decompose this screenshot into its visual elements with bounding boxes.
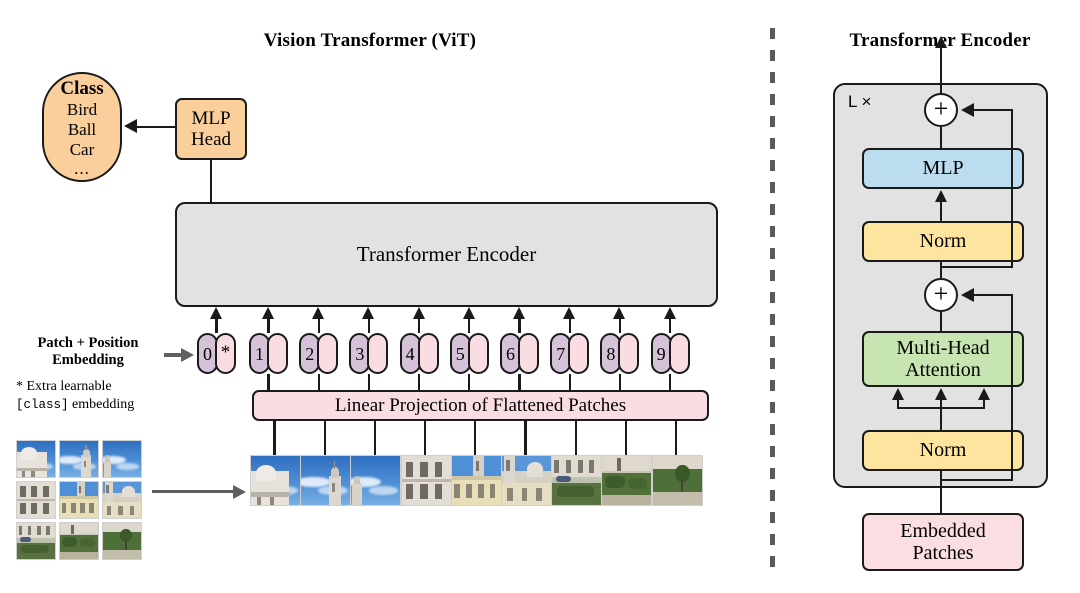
projection-to-patch-6-line	[524, 419, 526, 456]
transformer-encoder-block: Transformer Encoder	[175, 202, 718, 307]
left-panel-title: Vision Transformer (ViT)	[0, 30, 740, 52]
token-9-to-projection-line	[669, 374, 671, 392]
token-8-to-projection-line	[619, 374, 621, 392]
residual-add-top-symbol: +	[934, 96, 949, 122]
token-0-up-arrowhead	[210, 307, 222, 319]
token-6: 6	[500, 333, 539, 374]
source-patch-r3-c1	[16, 522, 56, 560]
flattened-patch-2	[300, 455, 351, 506]
class-item-bird: Bird	[67, 100, 97, 120]
token-9-up-arrowhead	[664, 307, 676, 319]
embedded-patches-block: Embedded Patches	[862, 513, 1024, 571]
class-box-heading: Class	[60, 78, 103, 100]
token-2-patch-capsule	[317, 333, 338, 374]
flattened-patch-9	[652, 455, 703, 506]
flattened-patch-1	[250, 455, 301, 506]
source-patch-r1-c3	[102, 440, 142, 478]
token-3-up-arrowhead	[362, 307, 374, 319]
token-8-patch-capsule	[618, 333, 639, 374]
mlp-head-to-encoder-line	[210, 160, 212, 203]
token-7: 7	[550, 333, 589, 374]
projection-to-patch-8-line	[625, 419, 627, 456]
norm-upper-to-mlp-line	[940, 199, 942, 221]
patch-position-embedding-label: Patch + Position Embedding	[10, 335, 166, 369]
projection-to-patch-9-line	[675, 419, 677, 456]
residual-bus-bottom-top-segment	[969, 294, 1013, 296]
residual-bus-top-top-segment	[969, 109, 1013, 111]
source-image-grid	[16, 440, 140, 558]
qkv-arrowhead-2	[935, 388, 947, 400]
token-2-up-arrowhead	[312, 307, 324, 319]
norm-block-lower-label: Norm	[920, 439, 967, 461]
transformer-encoder-label: Transformer Encoder	[357, 243, 536, 267]
token-5-to-projection-line	[468, 374, 470, 392]
mlp-head-to-class-line	[137, 126, 175, 128]
residual-bus-top-bottom-segment	[940, 266, 1013, 268]
flattened-patch-4	[401, 455, 452, 506]
residual-bus-bottom-arrowhead	[961, 288, 974, 302]
projection-to-patch-4-line	[424, 419, 426, 456]
token-6-up-arrowhead	[513, 307, 525, 319]
footnote-line2-tail: embedding	[69, 397, 135, 412]
token-6-patch-capsule	[518, 333, 539, 374]
projection-to-patch-1-line	[273, 419, 275, 456]
token-8: 8	[600, 333, 639, 374]
projection-to-patch-3-line	[374, 419, 376, 456]
source-patch-r3-c3	[102, 522, 142, 560]
source-to-patches-arrowhead	[233, 485, 246, 499]
embedding-label-line1: Patch + Position	[10, 335, 166, 352]
source-patch-r3-c2	[59, 522, 99, 560]
encoder-output-line	[940, 46, 942, 100]
token-4: 4	[400, 333, 439, 374]
source-patch-r1-c1	[16, 440, 56, 478]
source-patch-r2-c3	[102, 481, 142, 519]
mlp-block: MLP	[862, 148, 1024, 189]
token-4-up-arrowhead	[413, 307, 425, 319]
token-7-to-projection-line	[569, 374, 571, 392]
mlp-to-add-top-line	[940, 127, 942, 149]
footnote-line1: * Extra learnable	[16, 378, 186, 396]
embedding-label-arrow-line	[164, 353, 182, 357]
residual-bus-top-arrowhead	[961, 103, 974, 117]
class-item-ball: Ball	[68, 120, 96, 140]
linear-projection-box: Linear Projection of Flattened Patches	[252, 390, 709, 421]
flattened-patch-5	[451, 455, 502, 506]
mlp-head-line2: Head	[191, 129, 231, 150]
token-4-to-projection-line	[418, 374, 420, 392]
token-0-patch-capsule: *	[215, 333, 236, 374]
multi-head-attention-block: Multi-Head Attention	[862, 331, 1024, 387]
token-1-patch-capsule	[267, 333, 288, 374]
source-to-patches-line	[152, 490, 234, 493]
embedded-patches-to-norm-lower-line	[940, 471, 942, 515]
norm-block-upper-label: Norm	[920, 230, 967, 252]
multi-head-attention-line1: Multi-Head	[896, 337, 989, 359]
embedding-label-arrowhead	[181, 348, 194, 362]
token-5-up-arrowhead	[463, 307, 475, 319]
projection-to-patch-5-line	[474, 419, 476, 456]
flattened-patch-3	[350, 455, 401, 506]
token-5-patch-capsule	[468, 333, 489, 374]
mlp-head-to-class-arrowhead	[124, 119, 137, 133]
token-2: 2	[299, 333, 338, 374]
footnote-line2: [class] embedding	[16, 396, 186, 414]
vit-architecture-figure: Vision Transformer (ViT) Class Bird Ball…	[0, 0, 1080, 593]
token-1-to-projection-line	[267, 374, 269, 392]
repeat-count-label: L ×	[848, 92, 871, 112]
token-5: 5	[450, 333, 489, 374]
add-bottom-to-norm-upper-line	[940, 262, 942, 280]
norm-upper-to-mlp-arrowhead	[935, 190, 947, 202]
token-7-patch-capsule	[568, 333, 589, 374]
panel-divider	[770, 28, 775, 574]
flattened-patch-6	[501, 455, 552, 506]
encoder-output-arrowhead	[935, 36, 947, 48]
token-6-to-projection-line	[518, 374, 520, 392]
token-7-up-arrowhead	[563, 307, 575, 319]
residual-add-bottom: +	[924, 278, 958, 312]
source-patch-r1-c2	[59, 440, 99, 478]
token-3-to-projection-line	[368, 374, 370, 392]
token-9: 9	[651, 333, 690, 374]
token-3-patch-capsule	[367, 333, 388, 374]
mlp-head-box: MLP Head	[175, 98, 247, 160]
token-2-to-projection-line	[318, 374, 320, 392]
mlp-block-label: MLP	[922, 157, 963, 179]
class-items-ellipsis: ...	[74, 160, 90, 179]
residual-add-top: +	[924, 93, 958, 127]
embedding-label-line2: Embedding	[10, 352, 166, 369]
embedded-patches-line2: Patches	[912, 542, 973, 564]
qkv-arrowhead-3	[978, 388, 990, 400]
class-item-car: Car	[70, 140, 95, 160]
norm-block-lower: Norm	[862, 430, 1024, 471]
norm-block-upper: Norm	[862, 221, 1024, 262]
footnote-mono-token: [class]	[16, 398, 69, 412]
qkv-arrowhead-1	[892, 388, 904, 400]
residual-bus-bottom-vertical	[1011, 295, 1013, 481]
embedded-patches-line1: Embedded	[900, 520, 986, 542]
source-patch-r2-c2	[59, 481, 99, 519]
attention-to-add-bottom-line	[940, 310, 942, 332]
mlp-head-line1: MLP	[191, 108, 230, 129]
token-0: 0*	[197, 333, 236, 374]
multi-head-attention-line2: Attention	[905, 359, 981, 381]
norm-lower-up-line	[940, 408, 942, 430]
token-3: 3	[349, 333, 388, 374]
token-1-up-arrowhead	[262, 307, 274, 319]
token-8-up-arrowhead	[613, 307, 625, 319]
flattened-patch-8	[601, 455, 652, 506]
token-1: 1	[249, 333, 288, 374]
token-4-patch-capsule	[418, 333, 439, 374]
class-output-box: Class Bird Ball Car ...	[42, 72, 122, 182]
residual-add-bottom-symbol: +	[934, 281, 949, 307]
residual-bus-top-vertical	[1011, 110, 1013, 268]
class-token-footnote: * Extra learnable [class] embedding	[16, 378, 186, 413]
projection-to-patch-2-line	[324, 419, 326, 456]
source-patch-r2-c1	[16, 481, 56, 519]
token-9-patch-capsule	[669, 333, 690, 374]
residual-bus-bottom-bottom-segment	[940, 479, 1013, 481]
flattened-patch-7	[551, 455, 602, 506]
projection-to-patch-7-line	[575, 419, 577, 456]
linear-projection-label: Linear Projection of Flattened Patches	[335, 395, 626, 416]
